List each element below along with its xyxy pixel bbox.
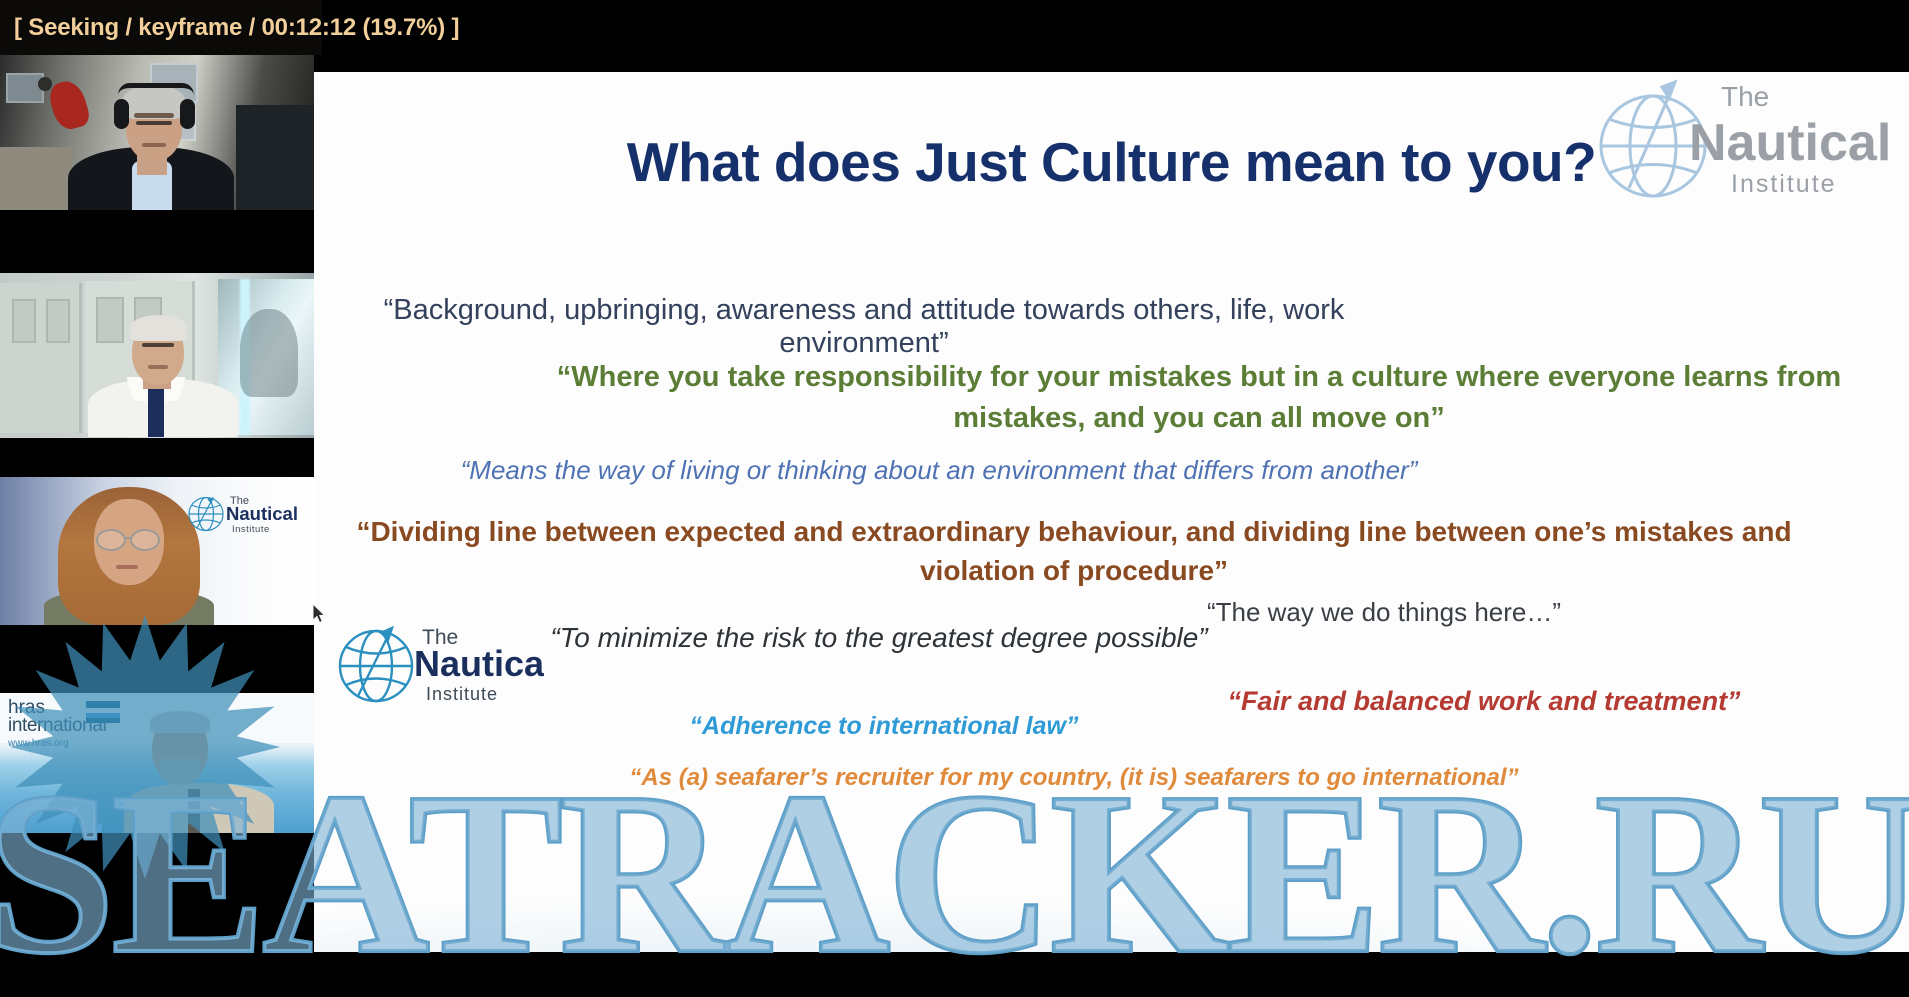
glasses-lens-left bbox=[96, 529, 126, 551]
logo-line-nautical: Nautical bbox=[1689, 114, 1891, 172]
door-panel bbox=[96, 297, 124, 343]
player-osd: [ Seeking / keyframe / 00:12:12 (19.7%) … bbox=[0, 0, 322, 55]
participant-tile-column: The Nautical Institute hras internationa… bbox=[0, 0, 314, 997]
quote-take-responsibility: “Where you take responsibility for your … bbox=[544, 357, 1854, 439]
headset-earcup-left bbox=[114, 99, 129, 129]
logo-line-nautical: Nautical bbox=[226, 503, 298, 524]
logo-line-nautical: Nautical bbox=[414, 643, 544, 684]
person-eyes bbox=[142, 343, 174, 347]
nautical-institute-logo-icon: The Nautical Institute bbox=[182, 491, 302, 539]
person-brow bbox=[134, 113, 174, 118]
wall-shadow bbox=[240, 309, 298, 397]
participant-2-video bbox=[0, 273, 314, 438]
osd-status-text: [ Seeking / keyframe / 00:12:12 (19.7%) … bbox=[14, 14, 459, 42]
logo-line-the: The bbox=[1721, 81, 1769, 112]
mouse-cursor-icon bbox=[313, 604, 329, 626]
participant-tile-4[interactable]: hras international www.hras.org bbox=[0, 669, 314, 869]
presentation-slide[interactable]: What does Just Culture mean to you? “Bac… bbox=[314, 72, 1909, 952]
logo-line-institute: Institute bbox=[232, 524, 270, 535]
participant-3-video: The Nautical Institute bbox=[0, 477, 314, 625]
video-player-stage: The Nautical Institute hras internationa… bbox=[0, 0, 1909, 997]
door-panel bbox=[12, 299, 36, 343]
participant-tile-3[interactable]: The Nautical Institute bbox=[0, 462, 314, 662]
headset-band bbox=[118, 83, 194, 95]
nautical-institute-logo-bottom-icon: The Nautical Institute bbox=[334, 614, 544, 714]
background-shelf bbox=[0, 147, 72, 210]
person-eyes bbox=[136, 121, 172, 125]
glasses-lens-right bbox=[130, 529, 160, 551]
quote-seafarers-recruiter: “As (a) seafarer’s recruiter for my coun… bbox=[374, 764, 1774, 792]
logo-line-institute: Institute bbox=[426, 684, 498, 704]
participant-1-video bbox=[0, 55, 314, 210]
nautical-institute-logo-top-icon: The Nautical Institute bbox=[1571, 72, 1891, 214]
quote-adherence-international-law: “Adherence to international law” bbox=[394, 712, 1374, 741]
person-mouth bbox=[142, 143, 166, 147]
glasses-bridge bbox=[125, 537, 132, 539]
hras-line-3: www.hras.org bbox=[8, 735, 106, 753]
hras-flag-icon bbox=[86, 701, 120, 723]
background-object bbox=[38, 77, 52, 91]
door-panel bbox=[46, 299, 70, 343]
logo-line-institute: Institute bbox=[1731, 170, 1837, 198]
headset-earcup-right bbox=[180, 99, 195, 129]
person-mouth bbox=[148, 365, 168, 369]
quote-way-of-living: “Means the way of living or thinking abo… bbox=[314, 455, 1564, 486]
person-hair bbox=[150, 711, 210, 733]
quote-dividing-line: “Dividing line between expected and extr… bbox=[314, 512, 1834, 590]
participant-4-video: hras international www.hras.org bbox=[0, 693, 314, 833]
quote-background-upbringing: “Background, upbringing, awareness and a… bbox=[314, 294, 1414, 360]
person-tie bbox=[188, 789, 200, 833]
background-dark-area bbox=[236, 105, 314, 210]
participant-tile-2[interactable] bbox=[0, 255, 314, 455]
background-object-red bbox=[46, 77, 92, 133]
person-beard bbox=[160, 759, 200, 785]
person-tie bbox=[148, 385, 164, 437]
person-hair bbox=[130, 315, 187, 341]
participant-tile-1[interactable] bbox=[0, 48, 314, 248]
person-mouth bbox=[116, 565, 138, 569]
